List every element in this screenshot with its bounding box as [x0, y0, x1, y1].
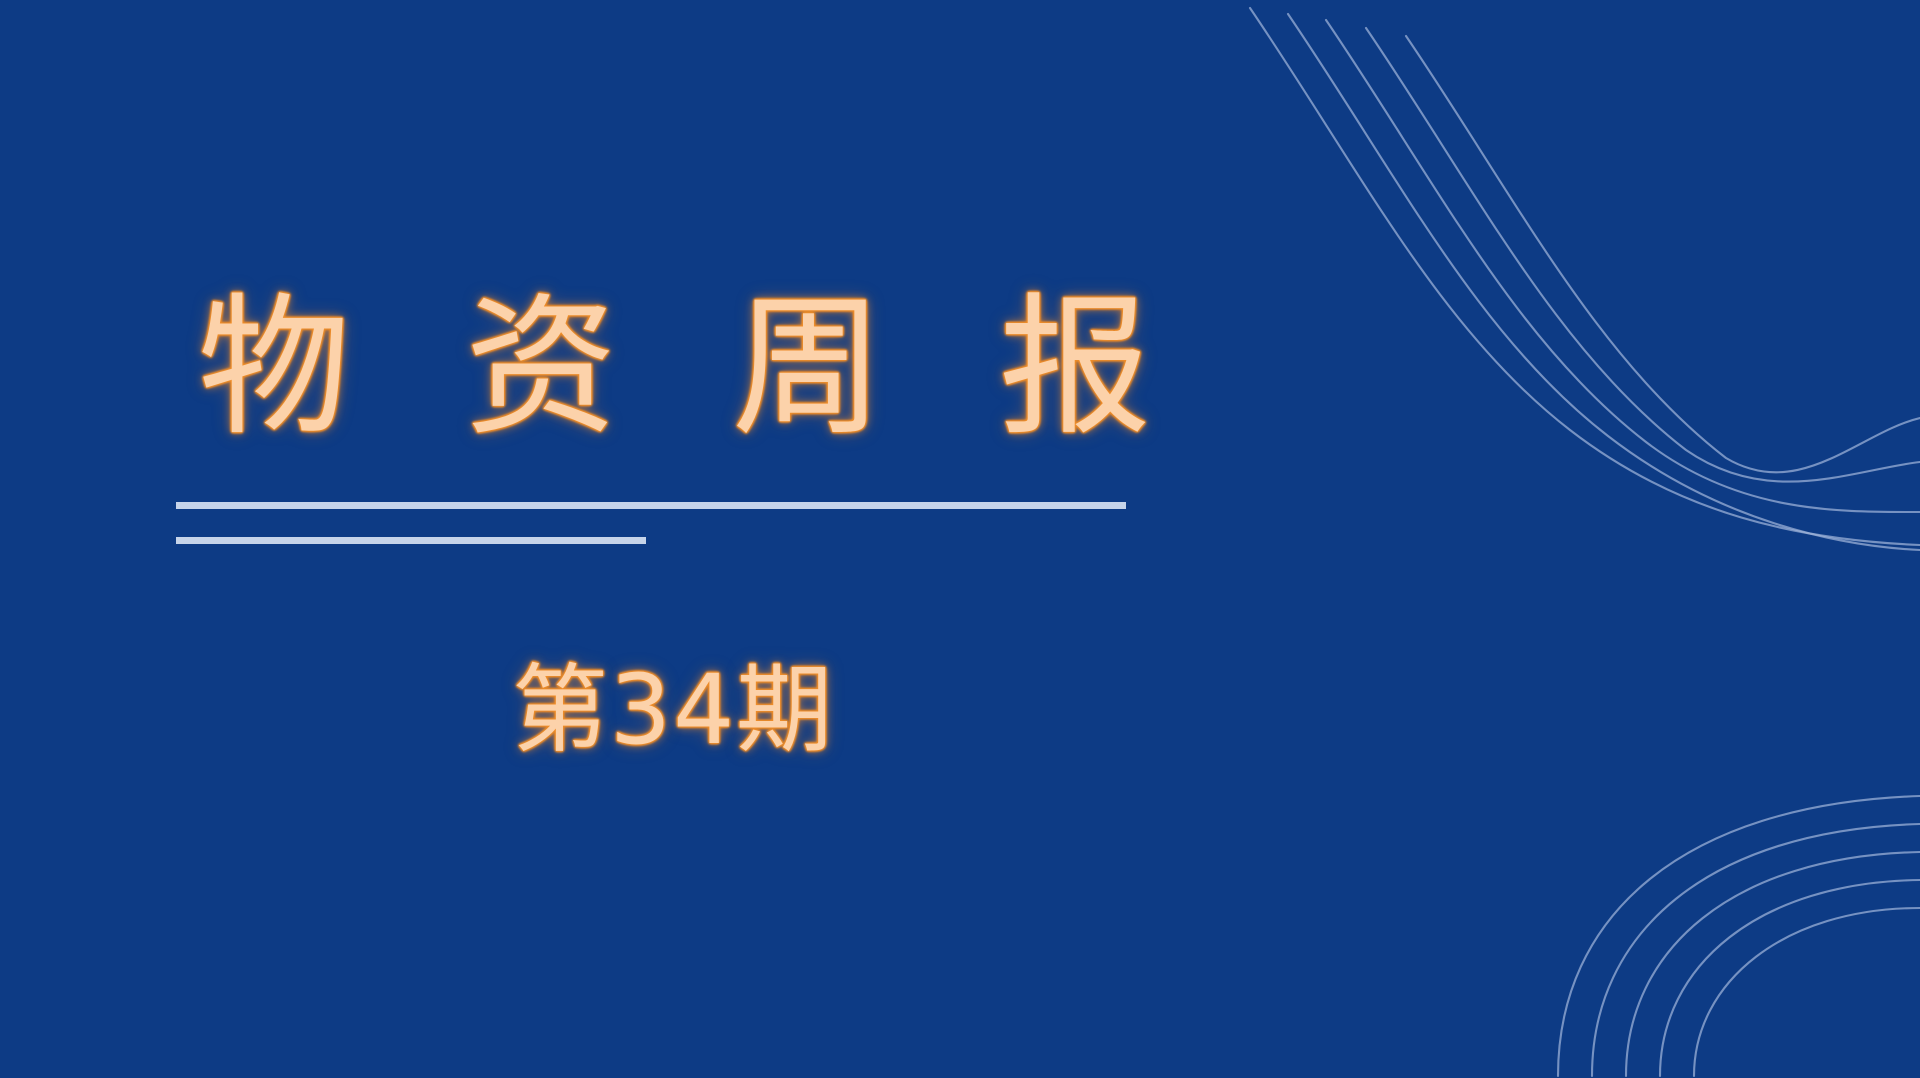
- title-underline-long: [176, 502, 1126, 509]
- cover-content: 物资周报 第34期: [0, 0, 1920, 1078]
- title-underline-short: [176, 537, 646, 544]
- page-title: 物资周报: [198, 292, 1266, 444]
- issue-subtitle: 第34期: [512, 655, 834, 765]
- cover-slide: 物资周报 第34期: [0, 0, 1920, 1078]
